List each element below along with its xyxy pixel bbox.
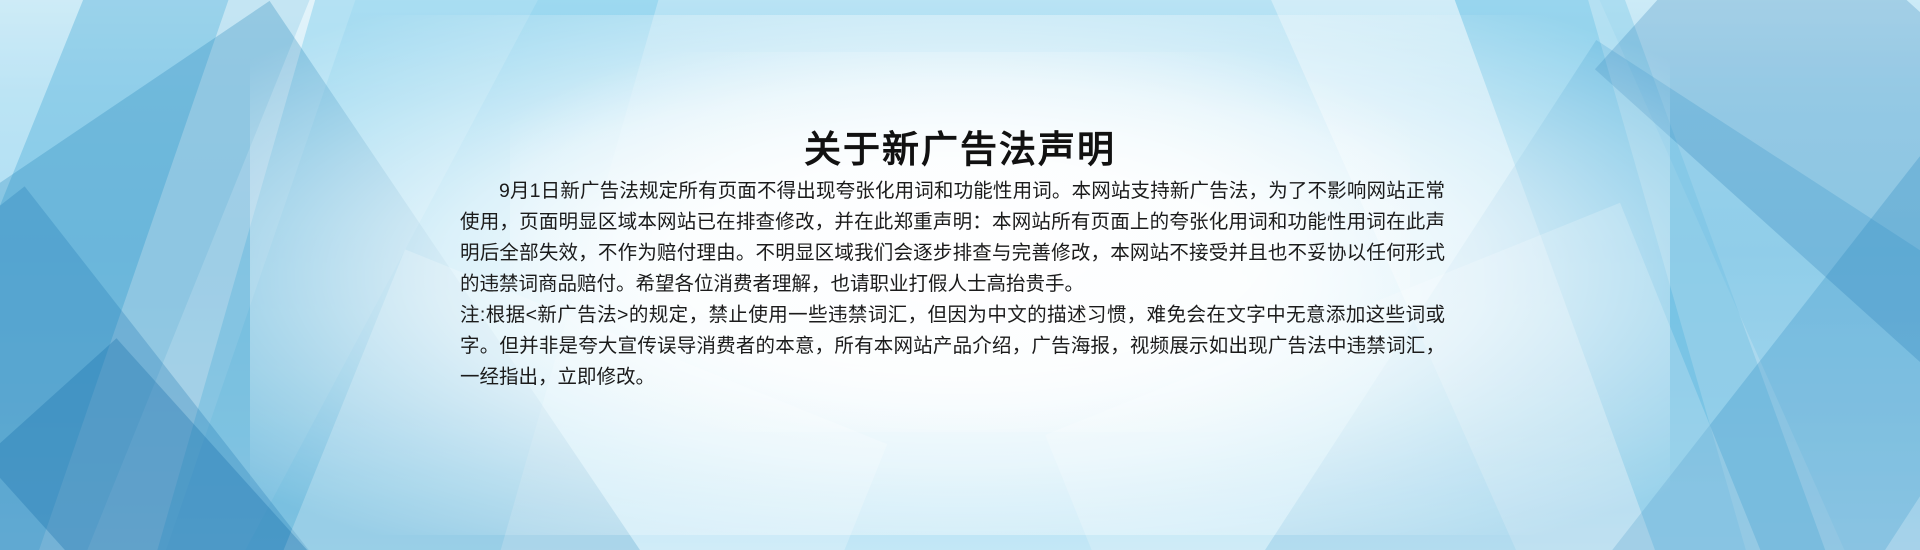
statement-paragraph-2: 注:根据<新广告法>的规定，禁止使用一些违禁词汇，但因为中文的描述习惯，难免会在…: [460, 300, 1445, 393]
statement-content: 关于新广告法声明 9月1日新广告法规定所有页面不得出现夸张化用词和功能性用词。本…: [0, 0, 1920, 550]
page-title: 关于新广告法声明: [0, 119, 1920, 173]
statement-body: 9月1日新广告法规定所有页面不得出现夸张化用词和功能性用词。本网站支持新广告法，…: [460, 176, 1445, 393]
advertising-law-statement-banner: 关于新广告法声明 9月1日新广告法规定所有页面不得出现夸张化用词和功能性用词。本…: [0, 0, 1920, 550]
statement-paragraph-1: 9月1日新广告法规定所有页面不得出现夸张化用词和功能性用词。本网站支持新广告法，…: [460, 176, 1445, 300]
